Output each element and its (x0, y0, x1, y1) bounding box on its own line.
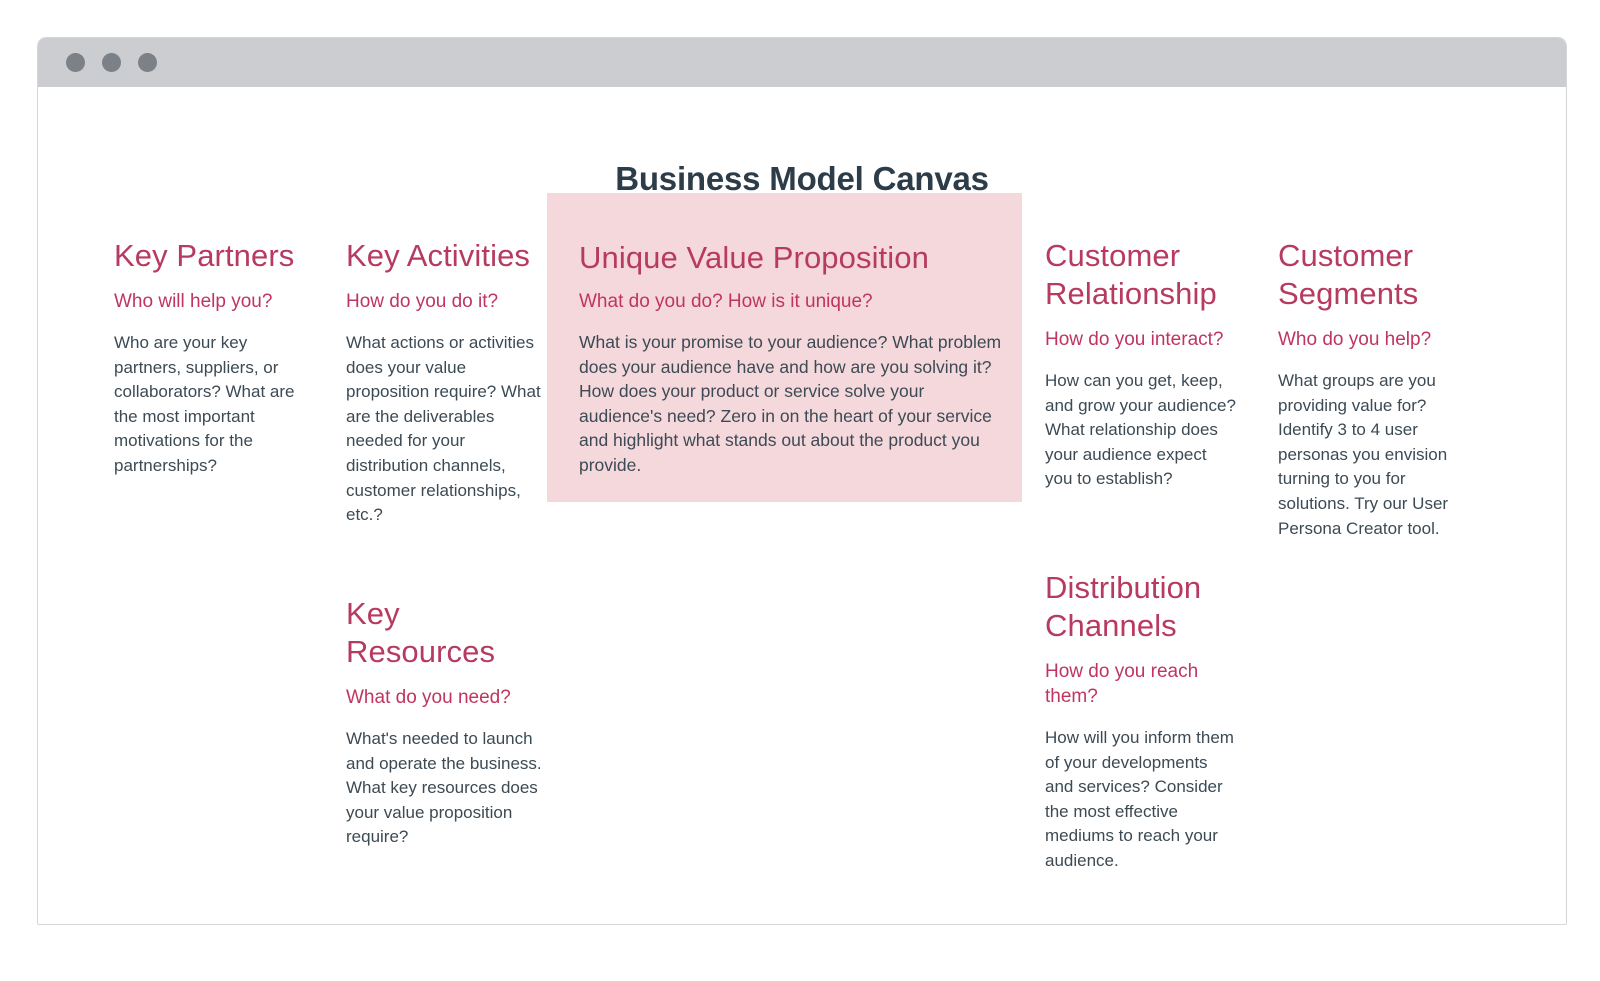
section-subheading: Who will help you? (114, 289, 319, 314)
section-subheading: What do you do? How is it unique? (579, 289, 1004, 314)
section-subheading: How do you reach them? (1045, 659, 1240, 709)
section-customer-relationship[interactable]: Customer Relationship How do you interac… (1045, 237, 1238, 492)
section-heading: Key Activities (346, 237, 542, 275)
section-body: What actions or activities does your val… (346, 331, 542, 528)
section-key-resources[interactable]: Key Resources What do you need? What's n… (346, 595, 546, 850)
section-heading: Key Resources (346, 595, 546, 671)
section-subheading: What do you need? (346, 685, 546, 710)
section-body: What is your promise to your audience? W… (579, 330, 1004, 477)
section-unique-value-proposition[interactable]: Unique Value Proposition What do you do?… (579, 239, 1004, 477)
business-model-canvas: Business Model Canvas Key Partners Who w… (38, 87, 1566, 924)
section-body: How can you get, keep, and grow your aud… (1045, 369, 1238, 492)
section-subheading: How do you do it? (346, 289, 542, 314)
section-heading: Unique Value Proposition (579, 239, 1004, 277)
section-body: How will you inform them of your develop… (1045, 726, 1240, 874)
section-key-partners[interactable]: Key Partners Who will help you? Who are … (114, 237, 319, 479)
browser-title-bar (38, 38, 1566, 87)
section-customer-segments[interactable]: Customer Segments Who do you help? What … (1278, 237, 1478, 541)
section-body: What's needed to launch and operate the … (346, 727, 546, 850)
minimize-dot-icon[interactable] (102, 53, 121, 72)
close-dot-icon[interactable] (66, 53, 85, 72)
maximize-dot-icon[interactable] (138, 53, 157, 72)
section-key-activities[interactable]: Key Activities How do you do it? What ac… (346, 237, 542, 528)
section-body: What groups are you providing value for?… (1278, 369, 1478, 541)
section-heading: Customer Relationship (1045, 237, 1238, 313)
section-heading: Distribution Channels (1045, 569, 1240, 645)
section-heading: Customer Segments (1278, 237, 1478, 313)
traffic-light-dots (66, 38, 157, 87)
app-root: Business Model Canvas Key Partners Who w… (0, 0, 1600, 981)
section-body: Who are your key partners, suppliers, or… (114, 331, 319, 479)
section-distribution-channels[interactable]: Distribution Channels How do you reach t… (1045, 569, 1240, 874)
browser-window: Business Model Canvas Key Partners Who w… (37, 37, 1567, 925)
section-subheading: How do you interact? (1045, 327, 1238, 352)
section-heading: Key Partners (114, 237, 319, 275)
section-subheading: Who do you help? (1278, 327, 1478, 352)
